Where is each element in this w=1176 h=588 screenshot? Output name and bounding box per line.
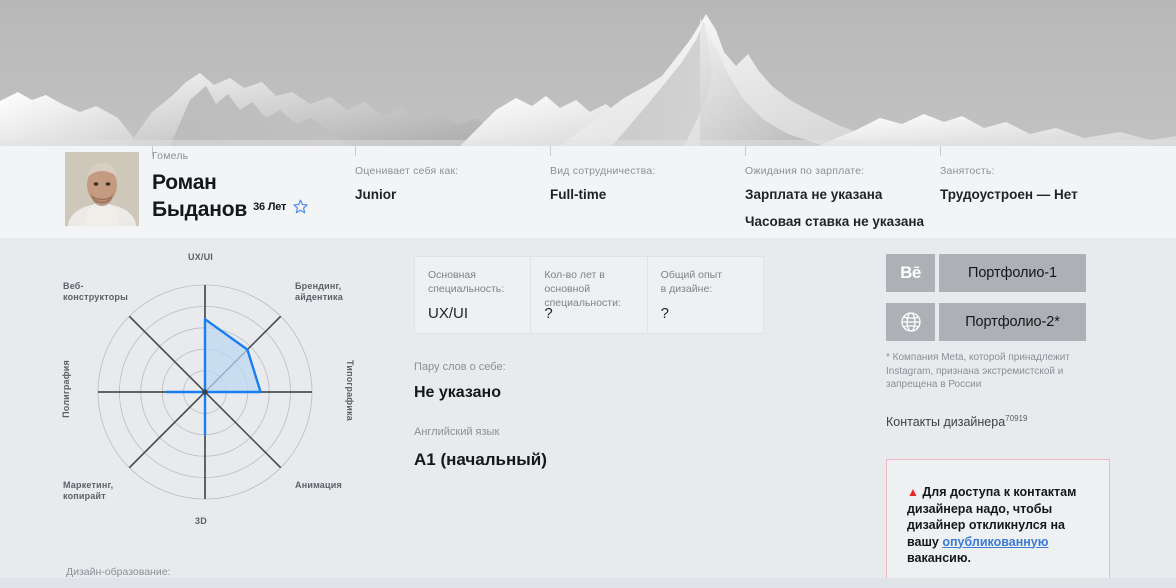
card-label-line2: специальности: xyxy=(544,296,634,310)
radar-label-typography: Типографика xyxy=(344,360,355,421)
behance-icon[interactable]: Bē xyxy=(886,254,935,292)
portfolio-2-button[interactable]: Портфолио-2* xyxy=(939,303,1086,341)
behance-glyph: Bē xyxy=(900,263,921,283)
column-divider xyxy=(550,146,551,156)
hero-banner-mountain xyxy=(0,0,1176,146)
radar-label-marketing: Маркетинг, копирайт xyxy=(63,480,129,502)
skills-radar-chart: UX/UI Брендинг, айдентика Типографика Ан… xyxy=(55,248,385,543)
card-label-line2: в дизайне: xyxy=(661,282,751,296)
designer-contacts-heading: Контакты дизайнера70919 xyxy=(886,414,1027,429)
age-label: 36 Лет xyxy=(253,195,286,222)
radar-label-branding: Брендинг, айдентика xyxy=(295,281,361,303)
hdr-label-employment: Занятость: xyxy=(940,165,995,177)
meta-disclaimer: * Компания Meta, которой принадлежит Ins… xyxy=(886,351,1098,392)
warning-triangle-icon: ▲ xyxy=(907,485,919,499)
last-name: Быданов xyxy=(152,198,247,222)
radar-label-uxui: UX/UI xyxy=(188,252,213,263)
hdr-label-level: Оценивает себя как: xyxy=(355,165,458,177)
language-label: Английский язык xyxy=(414,426,547,438)
warning-text-after: вакансию. xyxy=(907,551,971,565)
design-education-label: Дизайн-образование: xyxy=(66,566,170,578)
hdr-value-employment: Трудоустроен — Нет xyxy=(940,187,1078,202)
language-section: Английский язык A1 (начальный) xyxy=(414,426,547,470)
specialty-cards: Основная специальность: UX/UI Кол-во лет… xyxy=(414,256,764,334)
radar-label-animation: Анимация xyxy=(295,480,342,491)
published-vacancy-link[interactable]: опубликованную xyxy=(942,535,1048,549)
star-icon[interactable] xyxy=(292,197,309,222)
portfolio-1-button[interactable]: Портфолио-1 xyxy=(939,254,1086,292)
contacts-superscript: 70919 xyxy=(1005,414,1027,423)
designer-profile-page: Оценивает себя как: Junior Вид сотруднич… xyxy=(0,0,1176,588)
about-value: Не указано xyxy=(414,384,506,402)
column-divider xyxy=(745,146,746,156)
hdr-value-salary: Зарплата не указана xyxy=(745,187,882,202)
column-divider xyxy=(940,146,941,156)
card-total-design-experience: Общий опыт в дизайне: ? xyxy=(647,257,763,333)
card-value-years: ? xyxy=(544,305,552,322)
radar-label-3d: 3D xyxy=(195,516,207,527)
radar-label-web-constructors: Веб-конструкторы xyxy=(63,281,131,303)
hdr-label-cooperation: Вид сотрудничества: xyxy=(550,165,656,177)
card-label-line1: Основная xyxy=(428,268,518,282)
hdr-value-level: Junior xyxy=(355,187,396,202)
card-label-line1: Общий опыт xyxy=(661,268,751,282)
column-divider xyxy=(355,146,356,156)
about-label: Пару слов о себе: xyxy=(414,361,506,373)
portfolio-2-row[interactable]: Портфолио-2* xyxy=(886,303,1086,341)
hdr-label-salary: Ожидания по зарплате: xyxy=(745,165,864,177)
avatar[interactable] xyxy=(65,152,139,226)
about-section: Пару слов о себе: Не указано xyxy=(414,361,506,402)
contacts-access-warning: ▲ Для доступа к контактам дизайнера надо… xyxy=(886,459,1110,579)
card-label-line2: специальность: xyxy=(428,282,518,296)
hdr-value-hourly-rate: Часовая ставка не указана xyxy=(745,214,924,229)
designer-name: Роман Быданов 36 Лет xyxy=(152,171,309,222)
city-label: Гомель xyxy=(152,150,309,162)
globe-icon[interactable] xyxy=(886,303,935,341)
card-main-specialty: Основная специальность: UX/UI xyxy=(415,257,530,333)
portfolio-1-row[interactable]: Bē Портфолио-1 xyxy=(886,254,1086,292)
card-value-main-specialty: UX/UI xyxy=(428,305,468,322)
footer-divider xyxy=(0,578,1176,588)
contacts-label: Контакты дизайнера xyxy=(886,415,1005,429)
first-name: Роман xyxy=(152,171,309,195)
language-value: A1 (начальный) xyxy=(414,450,547,470)
card-label-line1: Кол-во лет в основной xyxy=(544,268,634,296)
hdr-value-cooperation: Full-time xyxy=(550,187,606,202)
card-value-total-experience: ? xyxy=(661,305,669,322)
card-years-in-specialty: Кол-во лет в основной специальности: ? xyxy=(530,257,646,333)
identity-block: Гомель Роман Быданов 36 Лет xyxy=(152,150,309,222)
warning-text: ▲ Для доступа к контактам дизайнера надо… xyxy=(887,460,1109,567)
radar-label-polygraphy: Полиграфия xyxy=(61,360,72,418)
